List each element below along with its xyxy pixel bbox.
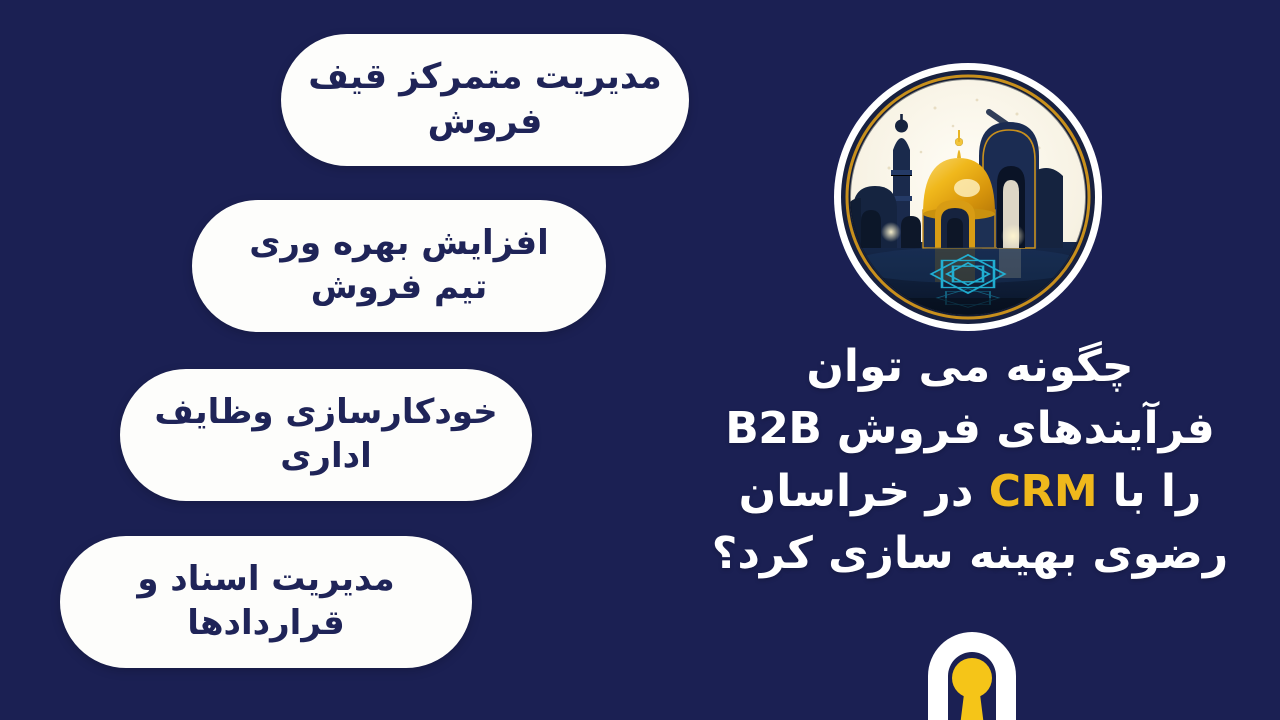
benefit-pill-2[interactable]: افزایش بهره وری تیم فروش bbox=[192, 200, 606, 332]
headline-line-3: را با CRM در خراسان bbox=[700, 461, 1240, 523]
keyhole-logo[interactable] bbox=[922, 630, 1022, 720]
page-title: چگونه می توان فرآیندهای فروش B2B را با C… bbox=[700, 336, 1240, 586]
headline-crm-token: CRM bbox=[989, 461, 1097, 523]
headline-line-4: رضوی بهینه سازی کرد؟ bbox=[700, 523, 1240, 585]
benefit-pill-label: افزایش بهره وری تیم فروش bbox=[218, 222, 580, 309]
headline-line-1: چگونه می توان bbox=[700, 336, 1240, 398]
headline-line-3-prefix: را با bbox=[1113, 466, 1202, 517]
benefit-pill-4[interactable]: مدیریت اسناد و قراردادها bbox=[60, 536, 472, 668]
benefit-pill-label: خودکارسازی وظایف اداری bbox=[146, 391, 506, 478]
mosque-shrine-illustration bbox=[831, 60, 1105, 334]
headline-b2b-token: B2B bbox=[725, 398, 821, 460]
headline-line-2-text: فرآیندهای فروش bbox=[837, 403, 1215, 454]
benefit-pill-3[interactable]: خودکارسازی وظایف اداری bbox=[120, 369, 532, 501]
headline-line-2: فرآیندهای فروش B2B bbox=[700, 398, 1240, 460]
benefit-pill-label: مدیریت اسناد و قراردادها bbox=[86, 558, 446, 645]
headline-line-3-suffix: در خراسان bbox=[739, 466, 974, 517]
benefit-pill-label: مدیریت متمرکز قیف فروش bbox=[307, 55, 663, 145]
benefit-pill-1[interactable]: مدیریت متمرکز قیف فروش bbox=[281, 34, 689, 166]
poster-canvas: مدیریت متمرکز قیف فروش افزایش بهره وری ت… bbox=[0, 0, 1280, 720]
